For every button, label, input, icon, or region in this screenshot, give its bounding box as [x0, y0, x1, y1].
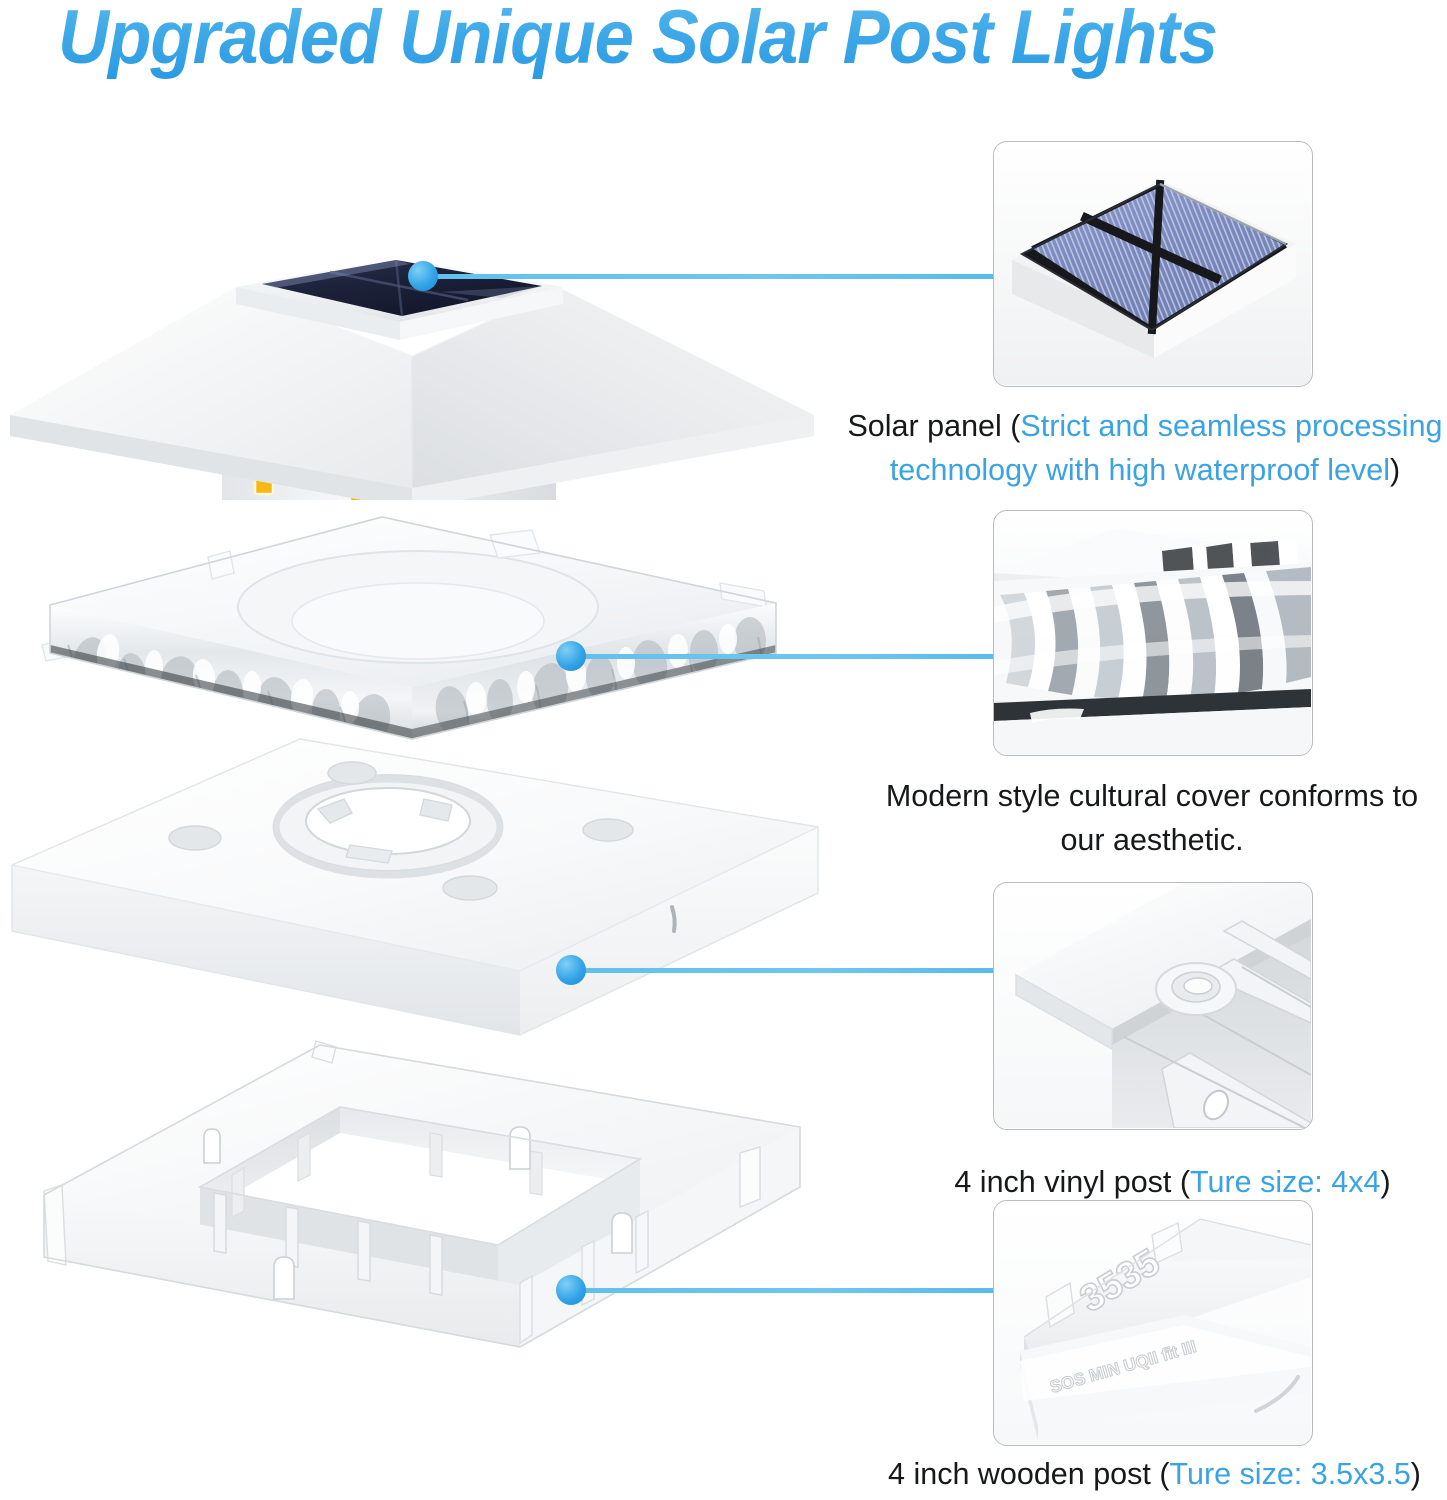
detail-box-wooden-post[interactable]: 3535 SOS MIN UQII fit III: [993, 1200, 1313, 1446]
caption-cultural-cover: Modern style cultural cover conforms to …: [862, 774, 1442, 862]
product-part-base-plate: [0, 735, 830, 1055]
caption-solar-panel: Solar panel (Strict and seamless process…: [845, 404, 1445, 492]
base-zoom-screw-boss: [1156, 963, 1236, 1015]
product-part-adapter-frame: [0, 1035, 830, 1385]
caption-wooden-prefix: 4 inch wooden post (: [888, 1457, 1169, 1491]
caption-wooden-post: 4 inch wooden post (Ture size: 3.5x3.5): [862, 1452, 1447, 1496]
caption-vinyl-highlight: Ture size: 4x4: [1190, 1165, 1380, 1199]
callout-line-cultural-cover: [578, 654, 996, 659]
caption-vinyl-prefix: 4 inch vinyl post (: [954, 1165, 1190, 1199]
detail-box-cultural-cover[interactable]: [993, 510, 1313, 756]
callout-dot-wooden-post[interactable]: [556, 1275, 586, 1305]
callout-line-wooden-post: [578, 1288, 996, 1293]
detail-box-vinyl-post[interactable]: [993, 882, 1313, 1130]
callout-dot-vinyl-post[interactable]: [556, 955, 586, 985]
caption-wooden-suffix: ): [1411, 1457, 1421, 1491]
callout-dot-cultural-cover[interactable]: [556, 641, 586, 671]
caption-solar-prefix: Solar panel (: [847, 409, 1020, 443]
caption-cover-text: Modern style cultural cover conforms to …: [886, 779, 1418, 857]
base-mount-ring: [276, 775, 500, 875]
callout-dot-solar-panel[interactable]: [408, 261, 438, 291]
page-title: Upgraded Unique Solar Post Lights: [58, 0, 1217, 81]
product-part-glass-cover: [20, 495, 810, 745]
caption-vinyl-post: 4 inch vinyl post (Ture size: 4x4): [900, 1160, 1445, 1204]
caption-solar-suffix: ): [1390, 453, 1400, 487]
callout-line-vinyl-post: [578, 968, 996, 973]
page-title-bar: Upgraded Unique Solar Post Lights Upgrad…: [0, 0, 1447, 86]
caption-vinyl-suffix: ): [1380, 1165, 1390, 1199]
detail-box-solar-panel[interactable]: [993, 141, 1313, 387]
caption-wooden-highlight: Ture size: 3.5x3.5: [1170, 1457, 1411, 1491]
cover-zoom-ripple-texture: [994, 563, 1311, 711]
callout-line-solar-panel: [430, 274, 996, 279]
